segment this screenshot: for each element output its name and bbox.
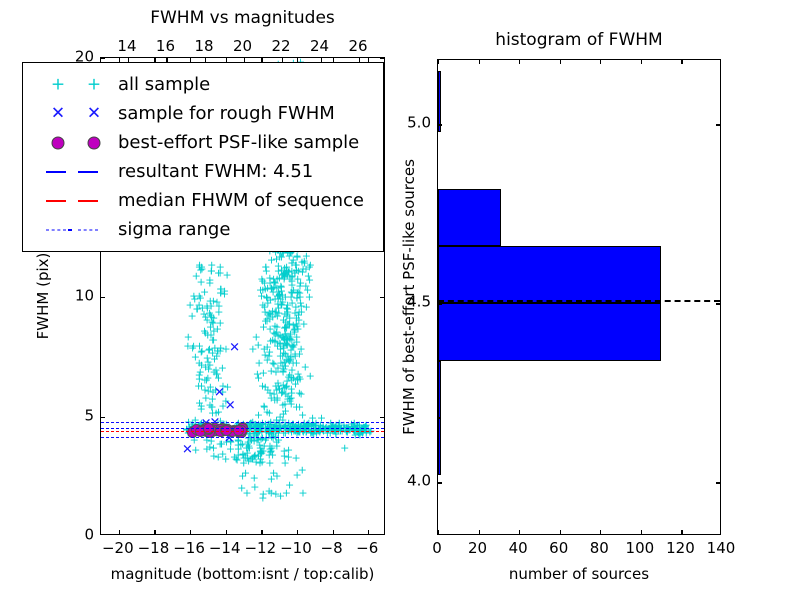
scatter-xlabel: magnitude (bottom:isnt / top:calib)	[111, 565, 375, 583]
x-tick[interactable]	[560, 530, 561, 534]
x-tick-top[interactable]	[681, 60, 682, 64]
legend-symbol[interactable]: ++	[32, 74, 118, 96]
x-tick-label-top[interactable]: 18	[194, 39, 213, 54]
x-tick-label[interactable]: 40	[509, 541, 528, 556]
x-tick-label-top[interactable]: 14	[117, 39, 136, 54]
x-tick[interactable]	[190, 530, 191, 534]
y-tick-right[interactable]	[716, 124, 720, 125]
legend-symbol[interactable]	[32, 219, 118, 241]
x-tick[interactable]	[333, 530, 334, 534]
legend-label[interactable]: best-effort PSF-like sample	[118, 134, 359, 152]
x-tick[interactable]	[479, 530, 480, 534]
y-tick-label[interactable]: 0	[84, 528, 94, 543]
legend-item[interactable]: sigma range	[32, 215, 374, 244]
x-tick-label[interactable]: 0	[432, 541, 442, 556]
y-tick-right[interactable]	[380, 417, 384, 418]
y-tick[interactable]	[438, 124, 442, 125]
legend: ++all sample✕✕sample for rough FWHMbest-…	[22, 62, 384, 252]
x-tick[interactable]	[119, 530, 120, 534]
x-tick-top[interactable]	[438, 60, 439, 64]
x-tick-label-top[interactable]: 24	[310, 39, 329, 54]
y-tick-label[interactable]: 10	[75, 289, 94, 304]
x-tick-label[interactable]: −18	[138, 541, 170, 556]
legend-item[interactable]: resultant FWHM: 4.51	[32, 157, 374, 186]
x-tick-top[interactable]	[600, 60, 601, 64]
y-tick-right[interactable]	[716, 303, 720, 304]
legend-label[interactable]: sigma range	[118, 221, 230, 239]
y-tick-right[interactable]	[380, 58, 384, 59]
x-tick-label[interactable]: −12	[244, 541, 276, 556]
legend-item[interactable]: median FHWM of sequence	[32, 186, 374, 215]
legend-symbol[interactable]	[32, 190, 118, 212]
x-tick-label[interactable]: −6	[356, 541, 378, 556]
y-tick[interactable]	[438, 482, 442, 483]
legend-label[interactable]: resultant FWHM: 4.51	[118, 163, 313, 181]
x-tick[interactable]	[519, 530, 520, 534]
dashdot-line-icon[interactable]	[46, 229, 66, 230]
x-tick-label-top[interactable]: 26	[348, 39, 367, 54]
histogram-xlabel: number of sources	[509, 565, 649, 583]
legend-item[interactable]: ✕✕sample for rough FWHM	[32, 99, 374, 128]
legend-label[interactable]: median FHWM of sequence	[118, 192, 364, 210]
histogram-tick-marks	[438, 60, 720, 534]
x-tick-label[interactable]: −10	[280, 541, 312, 556]
legend-item[interactable]: ++all sample	[32, 70, 374, 99]
histogram-reference-line[interactable]	[438, 300, 720, 302]
x-tick-label[interactable]: 140	[707, 541, 736, 556]
x-tick-label[interactable]: −16	[173, 541, 205, 556]
x-tick[interactable]	[641, 530, 642, 534]
x-tick-label-top[interactable]: 16	[156, 39, 175, 54]
y-tick-label[interactable]: 5.0	[407, 116, 431, 131]
x-tick-label[interactable]: 20	[468, 541, 487, 556]
x-tick[interactable]	[154, 530, 155, 534]
x-tick-label[interactable]: −8	[321, 541, 343, 556]
x-tick-label[interactable]: −14	[209, 541, 241, 556]
x-tick[interactable]	[600, 530, 601, 534]
dashed-line-icon[interactable]	[78, 171, 98, 173]
x-tick[interactable]	[368, 530, 369, 534]
legend-symbol[interactable]	[32, 132, 118, 154]
cross-icon[interactable]: ✕	[87, 105, 101, 122]
y-tick-label[interactable]: 5	[84, 408, 94, 423]
legend-label[interactable]: all sample	[118, 76, 210, 94]
plus-icon[interactable]: +	[87, 76, 101, 93]
y-tick-label[interactable]: 4.0	[407, 474, 431, 489]
legend-symbol[interactable]	[32, 161, 118, 183]
x-tick[interactable]	[261, 530, 262, 534]
histogram-title: histogram of FWHM	[495, 30, 662, 50]
x-tick-label[interactable]: 100	[626, 541, 655, 556]
legend-label[interactable]: sample for rough FWHM	[118, 105, 335, 123]
plus-icon[interactable]: +	[51, 76, 65, 93]
y-tick[interactable]	[438, 303, 442, 304]
x-tick-top[interactable]	[479, 60, 480, 64]
x-tick-label[interactable]: 60	[549, 541, 568, 556]
y-tick[interactable]	[101, 417, 105, 418]
y-tick[interactable]	[101, 297, 105, 298]
scatter-title: FWHM vs magnitudes	[150, 8, 335, 28]
cross-icon[interactable]: ✕	[51, 105, 65, 122]
x-tick-top[interactable]	[519, 60, 520, 64]
x-tick-top[interactable]	[560, 60, 561, 64]
x-tick[interactable]	[297, 530, 298, 534]
x-tick[interactable]	[681, 530, 682, 534]
dashdot-dot-icon[interactable]	[68, 229, 72, 231]
histogram-axes	[437, 59, 721, 535]
x-tick-label[interactable]: −20	[102, 541, 134, 556]
scatter-ylabel: FWHM (pix)	[34, 253, 52, 340]
x-tick-label[interactable]: 80	[590, 541, 609, 556]
x-tick[interactable]	[438, 530, 439, 534]
dashdot-line-icon[interactable]	[78, 229, 98, 230]
y-tick[interactable]	[101, 58, 105, 59]
x-tick-label-top[interactable]: 20	[233, 39, 252, 54]
dashed-line-icon[interactable]	[46, 171, 66, 173]
figure-canvas: ++++++++++++++++++++++++++++++++++++++++…	[0, 0, 800, 600]
y-tick-right[interactable]	[716, 482, 720, 483]
dashed-line-icon[interactable]	[46, 200, 66, 202]
x-tick-top[interactable]	[641, 60, 642, 64]
x-tick[interactable]	[226, 530, 227, 534]
y-tick-right[interactable]	[380, 297, 384, 298]
x-tick-label[interactable]: 120	[666, 541, 695, 556]
circle-icon[interactable]	[52, 136, 65, 149]
legend-item[interactable]: best-effort PSF-like sample	[32, 128, 374, 157]
circle-icon[interactable]	[88, 136, 101, 149]
dashed-line-icon[interactable]	[78, 200, 98, 202]
legend-symbol[interactable]: ✕✕	[32, 103, 118, 125]
y-tick-label[interactable]: 4.5	[407, 295, 431, 310]
x-tick-label-top[interactable]: 22	[271, 39, 290, 54]
